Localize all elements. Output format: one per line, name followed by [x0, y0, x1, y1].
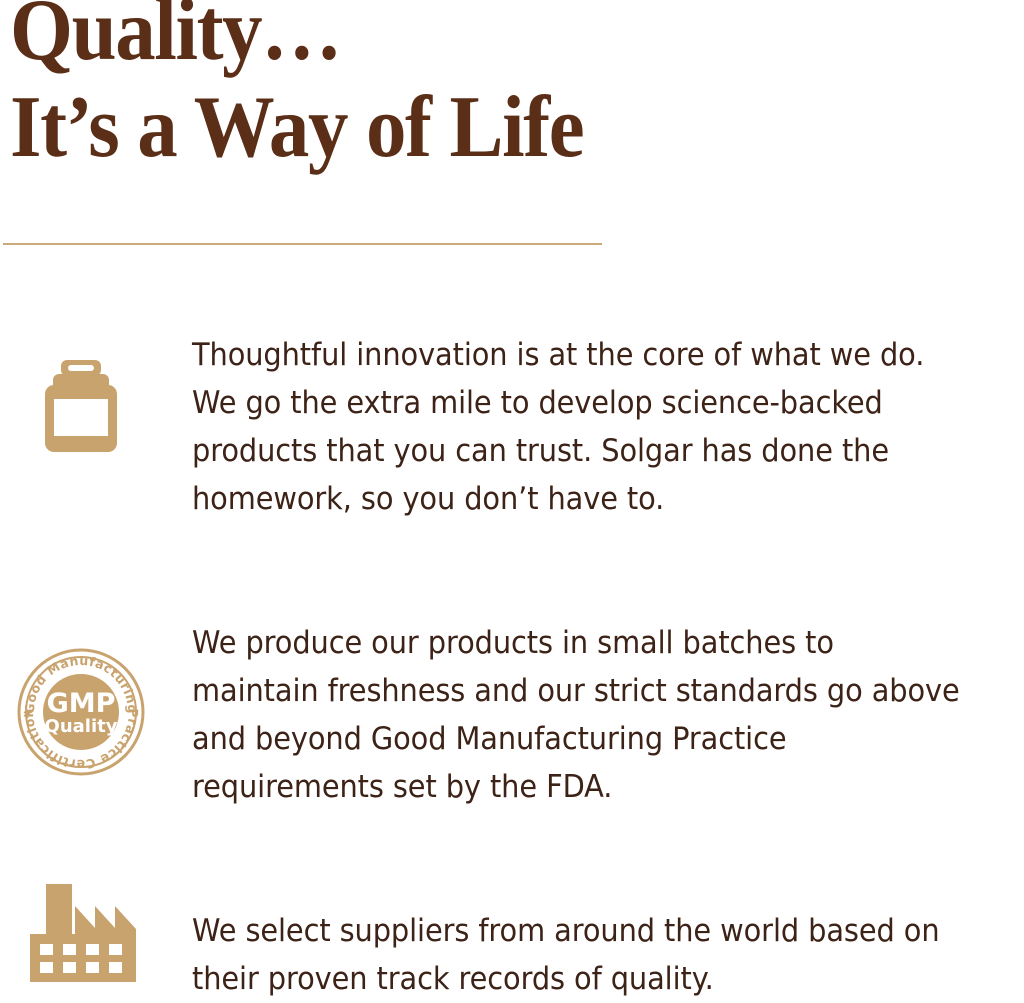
svg-text:✱: ✱ — [23, 708, 32, 721]
gmp-quality-seal-icon: Good Manufacturing Practice Certificatio… — [16, 647, 146, 777]
page-title: Quality… It’s a Way of Life — [10, 0, 910, 176]
svg-text:Quality: Quality — [45, 716, 118, 737]
feature-text-gmp: We produce our products in small batches… — [192, 619, 966, 811]
feature-icon-slot — [0, 331, 192, 332]
feature-icon-slot: Good Manufacturing Practice Certificatio… — [0, 619, 192, 620]
title-divider — [3, 243, 602, 245]
page-title-line-2: It’s a Way of Life — [10, 79, 838, 176]
feature-text-suppliers: We select suppliers from around the worl… — [192, 907, 966, 1003]
feature-row-innovation: Thoughtful innovation is at the core of … — [0, 331, 1024, 523]
feature-row-suppliers: We select suppliers from around the worl… — [0, 907, 1024, 1003]
feature-row-gmp: Good Manufacturing Practice Certificatio… — [0, 619, 1024, 811]
supplement-bottle-icon — [45, 360, 117, 452]
factory-icon — [30, 882, 136, 982]
feature-icon-slot — [0, 907, 192, 908]
page-title-line-1: Quality… — [10, 0, 838, 79]
quality-promise-panel: Quality… It’s a Way of Life Though — [0, 0, 1024, 1001]
svg-text:GMP: GMP — [47, 688, 116, 719]
feature-text-innovation: Thoughtful innovation is at the core of … — [192, 331, 966, 523]
